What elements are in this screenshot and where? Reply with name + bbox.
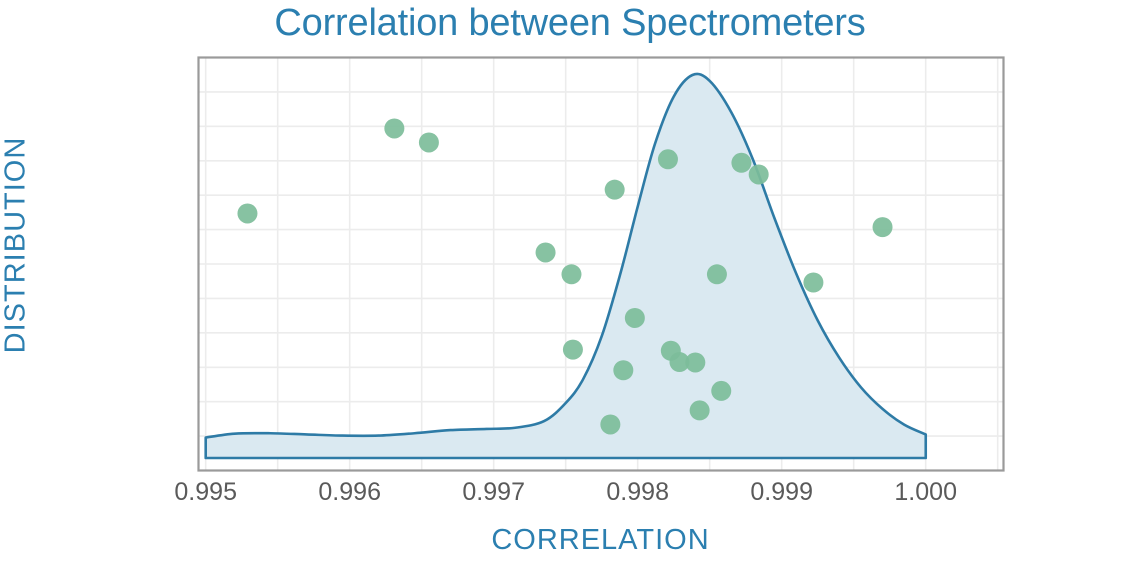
x-tick-label: 1.000 (894, 478, 957, 506)
scatter-point (707, 264, 727, 284)
scatter-point (613, 360, 633, 380)
x-tick-label: 0.997 (462, 478, 525, 506)
scatter-point (419, 132, 439, 152)
scatter-point (237, 203, 257, 223)
scatter-point (731, 153, 751, 173)
scatter-point (561, 264, 581, 284)
x-tick-label: 0.999 (750, 478, 813, 506)
x-tick-label: 0.998 (606, 478, 669, 506)
plot-area: 0.9950.9960.9970.9980.9991.000 (0, 0, 1140, 570)
scatter-point (625, 308, 645, 328)
scatter-point (384, 118, 404, 138)
scatter-point (563, 340, 583, 360)
scatter-point (605, 180, 625, 200)
x-axis-tick-labels: 0.9950.9960.9970.9980.9991.000 (174, 478, 957, 506)
scatter-point (690, 400, 710, 420)
scatter-point (536, 242, 556, 262)
x-tick-label: 0.995 (174, 478, 237, 506)
scatter-point (658, 149, 678, 169)
scatter-point (685, 352, 705, 372)
scatter-point (873, 217, 893, 237)
scatter-point (803, 273, 823, 293)
scatter-point (749, 164, 769, 184)
x-tick-label: 0.996 (318, 478, 381, 506)
scatter-point (600, 414, 620, 434)
scatter-point (711, 381, 731, 401)
chart-figure: Correlation between Spectrometers DISTRI… (0, 0, 1140, 570)
